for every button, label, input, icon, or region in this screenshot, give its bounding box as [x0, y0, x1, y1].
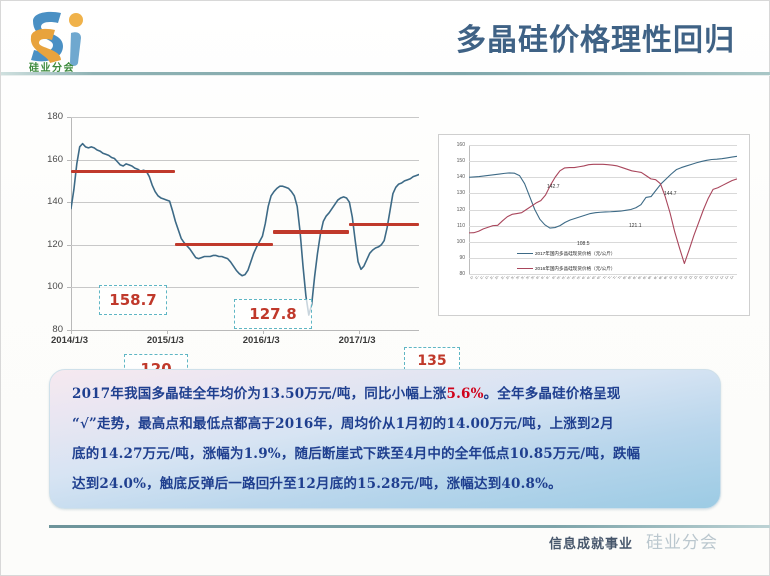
- y-tick-label: 160: [29, 154, 63, 165]
- x-tick-label: 2014/1/3: [51, 335, 88, 346]
- organization-logo: 硅业分会: [17, 7, 95, 73]
- small-chart-x-tick-labels: 1/41/111/181/252/12/82/152/223/13/83/153…: [469, 276, 737, 312]
- y-tick-label: 180: [29, 111, 63, 122]
- summary-line-1: 2017年我国多晶硅全年均价为13.50万元/吨，同比小幅上涨5.6%。全年多晶…: [72, 384, 700, 405]
- series-line: [469, 156, 737, 228]
- y-tick-label: 80: [29, 324, 63, 335]
- y-tick-label: 140: [443, 174, 465, 180]
- price-annotation: 158.7: [99, 285, 167, 315]
- main-price-chart: 80100120140160180 2014/1/32015/1/32016/1…: [19, 109, 431, 349]
- summary-line-1-a: 2017年我国多晶硅全年均价为13.50万元/吨，同比小幅上涨: [72, 386, 446, 402]
- summary-line-4: 达到24.0%，触底反弹后一路回升至12月底的15.28元/吨，涨幅达到40.8…: [72, 474, 700, 495]
- x-tick-label: 2016/1/3: [243, 335, 280, 346]
- y-tick-label: 150: [443, 158, 465, 164]
- y-tick-label: 160: [443, 142, 465, 148]
- y-tick-label: 110: [443, 223, 465, 229]
- y-tick-label: 120: [443, 207, 465, 213]
- legend-label-2016: 2016年国内多晶硅现货价格（元/公斤）: [535, 266, 615, 271]
- x-tick: [359, 330, 360, 334]
- header-divider-shadow: [1, 75, 770, 76]
- x-tick: [263, 330, 264, 334]
- legend-swatch-2016: [517, 268, 533, 269]
- comparison-chart: 8090100110120130140150160 142.7108.5121.…: [438, 134, 750, 316]
- legend-swatch-2017: [517, 253, 533, 254]
- legend-label-2017: 2017年国内多晶硅现货价格（元/公斤）: [535, 251, 615, 256]
- x-tick: [71, 330, 72, 334]
- x-tick-label: 12/27: [729, 276, 737, 280]
- legend-item-2017: 2017年国内多晶硅现货价格（元/公斤）: [517, 251, 615, 257]
- x-tick-label: 2017/1/3: [339, 335, 376, 346]
- data-point-label: 142.7: [547, 184, 560, 190]
- data-point-label: 121.1: [629, 223, 642, 229]
- footer-slogan: 信息成就事业: [549, 533, 633, 552]
- legend-item-2016: 2016年国内多晶硅现货价格（元/公斤）: [517, 266, 615, 272]
- summary-highlight: 5.6%: [446, 386, 483, 402]
- x-tick-label: 2015/1/3: [147, 335, 184, 346]
- page-title: 多晶硅价格理性回归: [456, 15, 735, 59]
- gridline: [71, 330, 419, 331]
- average-price-line: [273, 230, 350, 233]
- y-tick-label: 80: [443, 271, 465, 277]
- summary-line-1-b: 。全年多晶硅价格呈现: [484, 386, 621, 402]
- average-price-line: [349, 223, 419, 226]
- y-tick-label: 130: [443, 190, 465, 196]
- data-point-label: 144.7: [664, 191, 677, 197]
- slide-canvas: 硅业分会 多晶硅价格理性回归 80100120140160180 2014/1/…: [0, 0, 770, 576]
- y-tick-label: 140: [29, 196, 63, 207]
- series-line: [469, 164, 737, 263]
- slide-header: 硅业分会 多晶硅价格理性回归: [1, 1, 770, 75]
- average-price-line: [175, 243, 272, 246]
- summary-line-2: “√”走势，最高点和最低点都高于2016年，周均价从1月初的14.00万元/吨，…: [72, 414, 700, 435]
- gridline: [469, 274, 737, 275]
- summary-textbox: 2017年我国多晶硅全年均价为13.50万元/吨，同比小幅上涨5.6%。全年多晶…: [49, 369, 721, 509]
- y-tick-label: 90: [443, 255, 465, 261]
- y-tick-label: 100: [29, 281, 63, 292]
- y-tick-label: 100: [443, 239, 465, 245]
- price-annotation: 127.8: [234, 299, 312, 329]
- y-tick-label: 120: [29, 239, 63, 250]
- footer-watermark: 硅业分会: [646, 528, 718, 553]
- summary-line-3: 底的14.27万元/吨，涨幅为1.9%，随后断崖式下跌至4月中的全年低点10.8…: [72, 444, 700, 465]
- data-point-label: 108.5: [577, 241, 590, 247]
- average-price-line: [71, 170, 175, 173]
- x-tick: [167, 330, 168, 334]
